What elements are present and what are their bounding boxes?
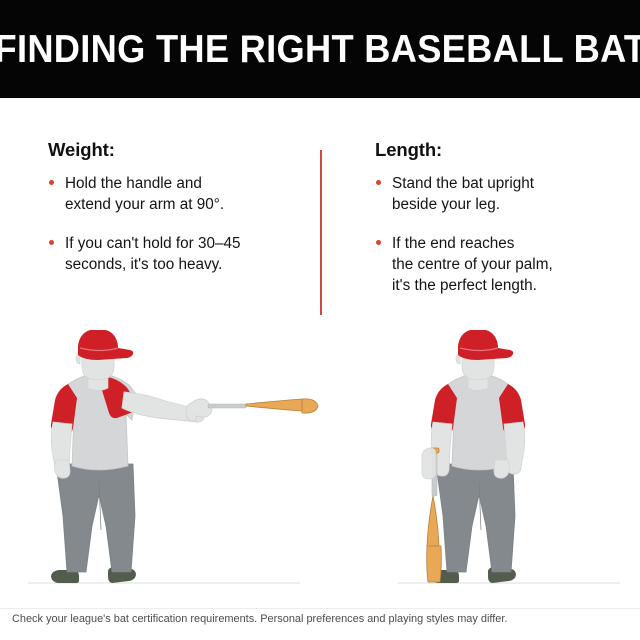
figure-weight-test <box>51 330 212 583</box>
list-item-text: Stand the bat upright beside your leg. <box>392 173 620 215</box>
hand-gripping-bat <box>422 448 436 479</box>
pants <box>56 464 135 572</box>
list-item-text: If the end reaches the centre of your pa… <box>392 233 620 296</box>
list-item: Stand the bat upright beside your leg. <box>375 173 620 215</box>
illustration-area <box>0 330 640 600</box>
hand-right <box>494 460 510 478</box>
bullet-dot-icon <box>376 240 381 245</box>
list-item: Hold the handle and extend your arm at 9… <box>48 173 298 215</box>
column-length-bullets: Stand the bat upright beside your leg. I… <box>375 173 620 296</box>
list-item-text: Hold the handle and extend your arm at 9… <box>65 173 298 215</box>
list-item: If the end reaches the centre of your pa… <box>375 233 620 296</box>
header-band: FINDING THE RIGHT BASEBALL BAT <box>0 0 640 98</box>
figure-length-test <box>431 330 525 583</box>
pants <box>436 464 515 572</box>
column-divider <box>320 150 322 315</box>
bat-barrel <box>427 546 442 582</box>
bat-handle <box>208 404 246 408</box>
page-title: FINDING THE RIGHT BASEBALL BAT <box>0 30 640 69</box>
hand-hanging <box>55 460 71 478</box>
column-weight-heading: Weight: <box>48 140 298 160</box>
bullet-dot-icon <box>49 240 54 245</box>
column-weight-bullets: Hold the handle and extend your arm at 9… <box>48 173 298 274</box>
column-length-heading: Length: <box>375 140 620 160</box>
list-item: If you can't hold for 30–45 seconds, it'… <box>48 233 298 275</box>
footer-divider <box>0 608 640 609</box>
bullet-dot-icon <box>376 180 381 185</box>
column-length: Length: Stand the bat upright beside you… <box>375 140 620 296</box>
footer-note: Check your league's bat certification re… <box>12 613 607 627</box>
column-weight: Weight: Hold the handle and extend your … <box>48 140 298 275</box>
bullet-dot-icon <box>49 180 54 185</box>
bat-barrel <box>302 399 318 413</box>
bat-taper <box>427 496 439 546</box>
infographic-page: FINDING THE RIGHT BASEBALL BAT Weight: H… <box>0 0 640 640</box>
list-item-text: If you can't hold for 30–45 seconds, it'… <box>65 233 298 275</box>
bat-horizontal <box>208 399 318 413</box>
bat-taper <box>246 399 302 411</box>
